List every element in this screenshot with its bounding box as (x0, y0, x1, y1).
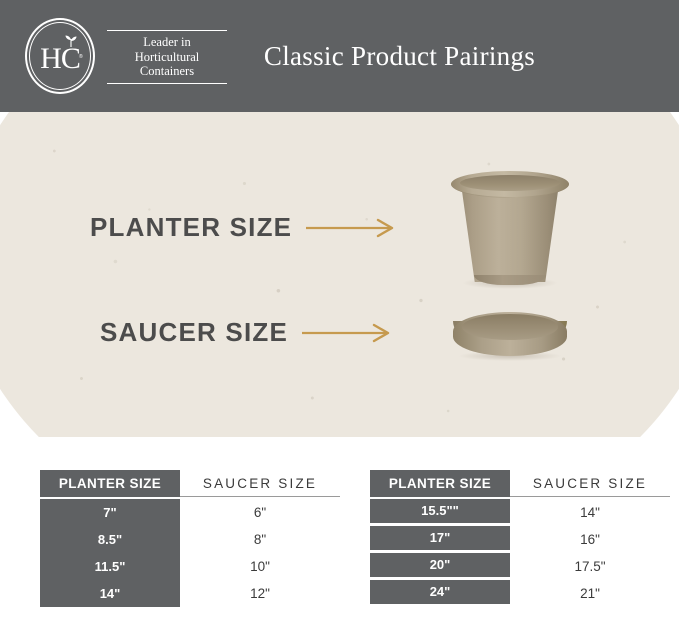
cell-planter-size: 7" (40, 499, 180, 526)
planter-pot-image (440, 167, 580, 297)
table-row: 17" 16" (370, 526, 670, 553)
table-row: 24" 21" (370, 580, 670, 607)
column-header-saucer-size: SAUCER SIZE (510, 470, 670, 497)
table-row: 7" 6" (40, 499, 340, 526)
cell-saucer-size: 10" (180, 553, 340, 580)
cell-saucer-size: 12" (180, 580, 340, 607)
table-header-row: PLANTER SIZE SAUCER SIZE (40, 470, 340, 497)
hero-section: PLANTER SIZE SAUCER SIZE (0, 112, 679, 437)
table-row: 11.5" 10" (40, 553, 340, 580)
table-row: 14" 12" (40, 580, 340, 607)
column-header-saucer-size: SAUCER SIZE (180, 470, 340, 497)
callout-label-saucer: SAUCER SIZE (100, 317, 288, 348)
callout-saucer-size: SAUCER SIZE (100, 317, 392, 348)
page-header: HC ® Leader in Horticultural Containers … (0, 0, 679, 112)
column-header-planter-size: PLANTER SIZE (370, 470, 510, 497)
page-title: Classic Product Pairings (0, 0, 679, 112)
arrow-right-icon (302, 323, 392, 343)
cell-planter-size: 11.5" (40, 553, 180, 580)
cell-planter-size: 17" (370, 526, 510, 550)
saucer-basin (462, 314, 558, 340)
planter-pot-opening (460, 175, 560, 191)
cell-saucer-size: 16" (510, 526, 670, 553)
saucer-dish-image (440, 307, 580, 367)
cell-planter-size: 20" (370, 553, 510, 577)
cell-planter-size: 8.5" (40, 526, 180, 553)
table-body: 15.5"" 14" 17" 16" 20" 17.5" 24" 21" (370, 499, 670, 607)
cell-saucer-size: 14" (510, 499, 670, 526)
cell-planter-size: 14" (40, 580, 180, 607)
callout-planter-size: PLANTER SIZE (90, 212, 396, 243)
column-header-planter-size: PLANTER SIZE (40, 470, 180, 497)
planter-pot-body (461, 184, 559, 282)
size-table-small: PLANTER SIZE SAUCER SIZE 7" 6" 8.5" 8" 1… (40, 470, 340, 607)
cell-planter-size: 15.5"" (370, 499, 510, 523)
callout-label-planter: PLANTER SIZE (90, 212, 292, 243)
arrow-right-icon (306, 218, 396, 238)
cell-saucer-size: 17.5" (510, 553, 670, 580)
cell-saucer-size: 21" (510, 580, 670, 607)
cell-planter-size: 24" (370, 580, 510, 604)
table-body: 7" 6" 8.5" 8" 11.5" 10" 14" 12" (40, 499, 340, 607)
table-header-row: PLANTER SIZE SAUCER SIZE (370, 470, 670, 497)
size-table-large: PLANTER SIZE SAUCER SIZE 15.5"" 14" 17" … (370, 470, 670, 607)
table-row: 20" 17.5" (370, 553, 670, 580)
table-row: 15.5"" 14" (370, 499, 670, 526)
size-tables-section: PLANTER SIZE SAUCER SIZE 7" 6" 8.5" 8" 1… (0, 470, 679, 636)
cell-saucer-size: 8" (180, 526, 340, 553)
cell-saucer-size: 6" (180, 499, 340, 526)
table-row: 8.5" 8" (40, 526, 340, 553)
